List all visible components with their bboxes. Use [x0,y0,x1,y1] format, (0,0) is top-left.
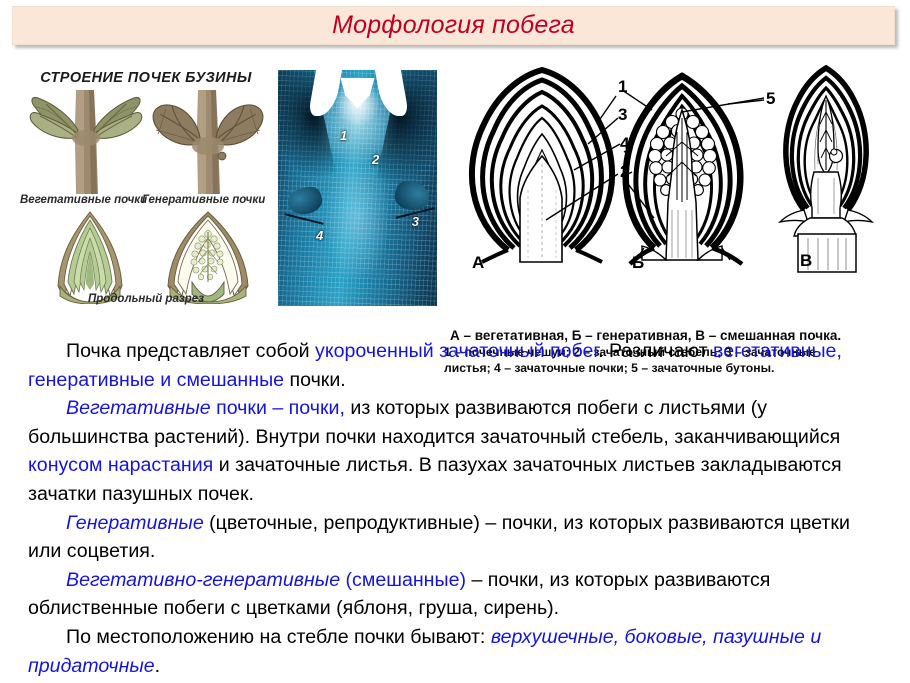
paragraph-vegetative: Вегетативные почки – почки, из которых р… [28,394,884,508]
paragraph-generative: Генеративные (цветочные, репродуктивные)… [28,509,884,566]
figure-row: СТРОЕНИЕ ПОЧЕК БУЗИНЫ [0,52,910,324]
micrograph-number-2: 2 [372,152,379,167]
paragraph-mixed: Вегетативно-генеративные (смешанные) – п… [28,566,884,623]
p2-term-vegetative: Вегетативные [66,397,211,419]
p2-part-b: почки – почки, [211,397,351,419]
slide-body-text: Почка представляет собой укороченный зач… [28,337,884,680]
bud-callout-number-4: 4 [620,134,630,153]
bud-callout-number-2: 2 [620,162,629,181]
figure-label-vegetative-buds: Вегетативные почки [20,194,147,206]
figure-elderberry-heading: СТРОЕНИЕ ПОЧЕК БУЗИНЫ [28,70,264,86]
page-title: Морфология побега [332,11,575,40]
drawing-vegetative-bud-section [46,208,134,304]
figure-label-longitudinal-section: Продольный разрез [88,293,204,305]
figure-elderberry-buds: СТРОЕНИЕ ПОЧЕК БУЗИНЫ [20,60,272,312]
p2-highlight-growth-cone: конусом нарастания [28,454,213,476]
p1-part-c: . Различают [598,340,713,362]
p4-term-vegetative-generative: Вегетативно-генеративные [66,569,340,591]
bud-callout-number-1: 1 [618,77,627,96]
bud-drawing-a: А [472,70,612,272]
p4-part-b: (смешанные) [340,569,466,591]
bud-panel-label-b: Б [632,253,644,272]
bud-panel-label-c: В [800,251,812,270]
p5-part-c: . [155,655,160,677]
figure-bud-types-line-drawings: А [446,52,906,277]
micrograph-number-1: 1 [340,128,347,143]
figure-shoot-apex-micrograph: 1 2 3 4 [278,70,437,306]
p1-highlight-shortened-shoot: укороченный зачаточный побег [315,340,598,362]
bud-callout-number-3: 3 [618,105,627,124]
paragraph-position: По местоположению на стебле почки бывают… [28,623,884,680]
p3-term-generative: Генеративные [66,512,204,534]
micrograph-number-4: 4 [316,228,323,243]
micrograph-number-3: 3 [412,214,419,229]
paragraph-definition: Почка представляет собой укороченный зач… [28,337,884,394]
drawing-generative-whole-bud [146,90,266,194]
bud-callout-number-5: 5 [766,89,775,108]
drawing-vegetative-whole-bud [26,90,144,194]
drawing-generative-bud-section [160,208,256,304]
p1-part-e: почки. [284,369,346,391]
figure-label-generative-buds: Генеративные почки [142,194,265,206]
p5-part-a: По местоположению на стебле почки бывают… [66,626,491,648]
p1-part-a: Почка представляет собой [66,340,315,362]
bud-drawing-c: В [780,68,872,272]
slide-title-banner: Морфология побега [12,6,895,45]
bud-panel-label-a: А [472,253,484,272]
